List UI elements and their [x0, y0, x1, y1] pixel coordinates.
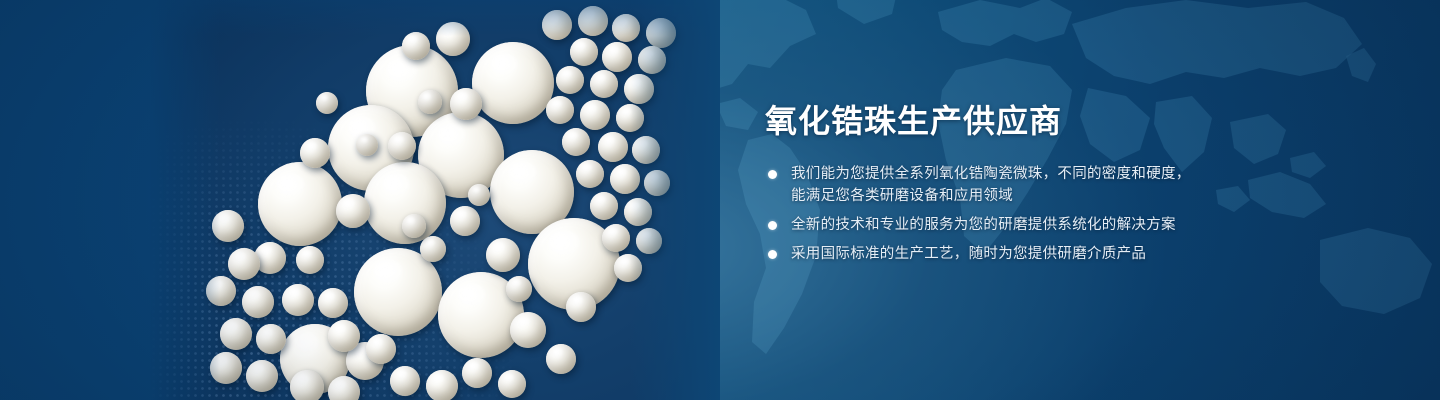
list-item-line: 我们能为您提供全系列氧化锆陶瓷微珠，不同的密度和硬度，	[791, 163, 1385, 185]
bullet-dot-icon	[768, 250, 777, 259]
list-item-line: 全新的技术和专业的服务为您的研磨提供系统化的解决方案	[791, 214, 1385, 236]
banner-copy: 氧化锆珠生产供应商 我们能为您提供全系列氧化锆陶瓷微珠，不同的密度和硬度， 能满…	[765, 104, 1385, 265]
hero-banner: 氧化锆珠生产供应商 我们能为您提供全系列氧化锆陶瓷微珠，不同的密度和硬度， 能满…	[0, 0, 1440, 400]
bullet-dot-icon	[768, 170, 777, 179]
list-item-line: 能满足您各类研磨设备和应用领域	[791, 185, 1385, 207]
list-item: 我们能为您提供全系列氧化锆陶瓷微珠，不同的密度和硬度， 能满足您各类研磨设备和应…	[765, 163, 1385, 207]
bullet-dot-icon	[768, 221, 777, 230]
list-item: 全新的技术和专业的服务为您的研磨提供系统化的解决方案	[765, 214, 1385, 236]
list-item-line: 采用国际标准的生产工艺，随时为您提供研磨介质产品	[791, 243, 1385, 265]
feature-list: 我们能为您提供全系列氧化锆陶瓷微珠，不同的密度和硬度， 能满足您各类研磨设备和应…	[765, 163, 1385, 265]
list-item: 采用国际标准的生产工艺，随时为您提供研磨介质产品	[765, 243, 1385, 265]
page-title: 氧化锆珠生产供应商	[765, 104, 1385, 139]
